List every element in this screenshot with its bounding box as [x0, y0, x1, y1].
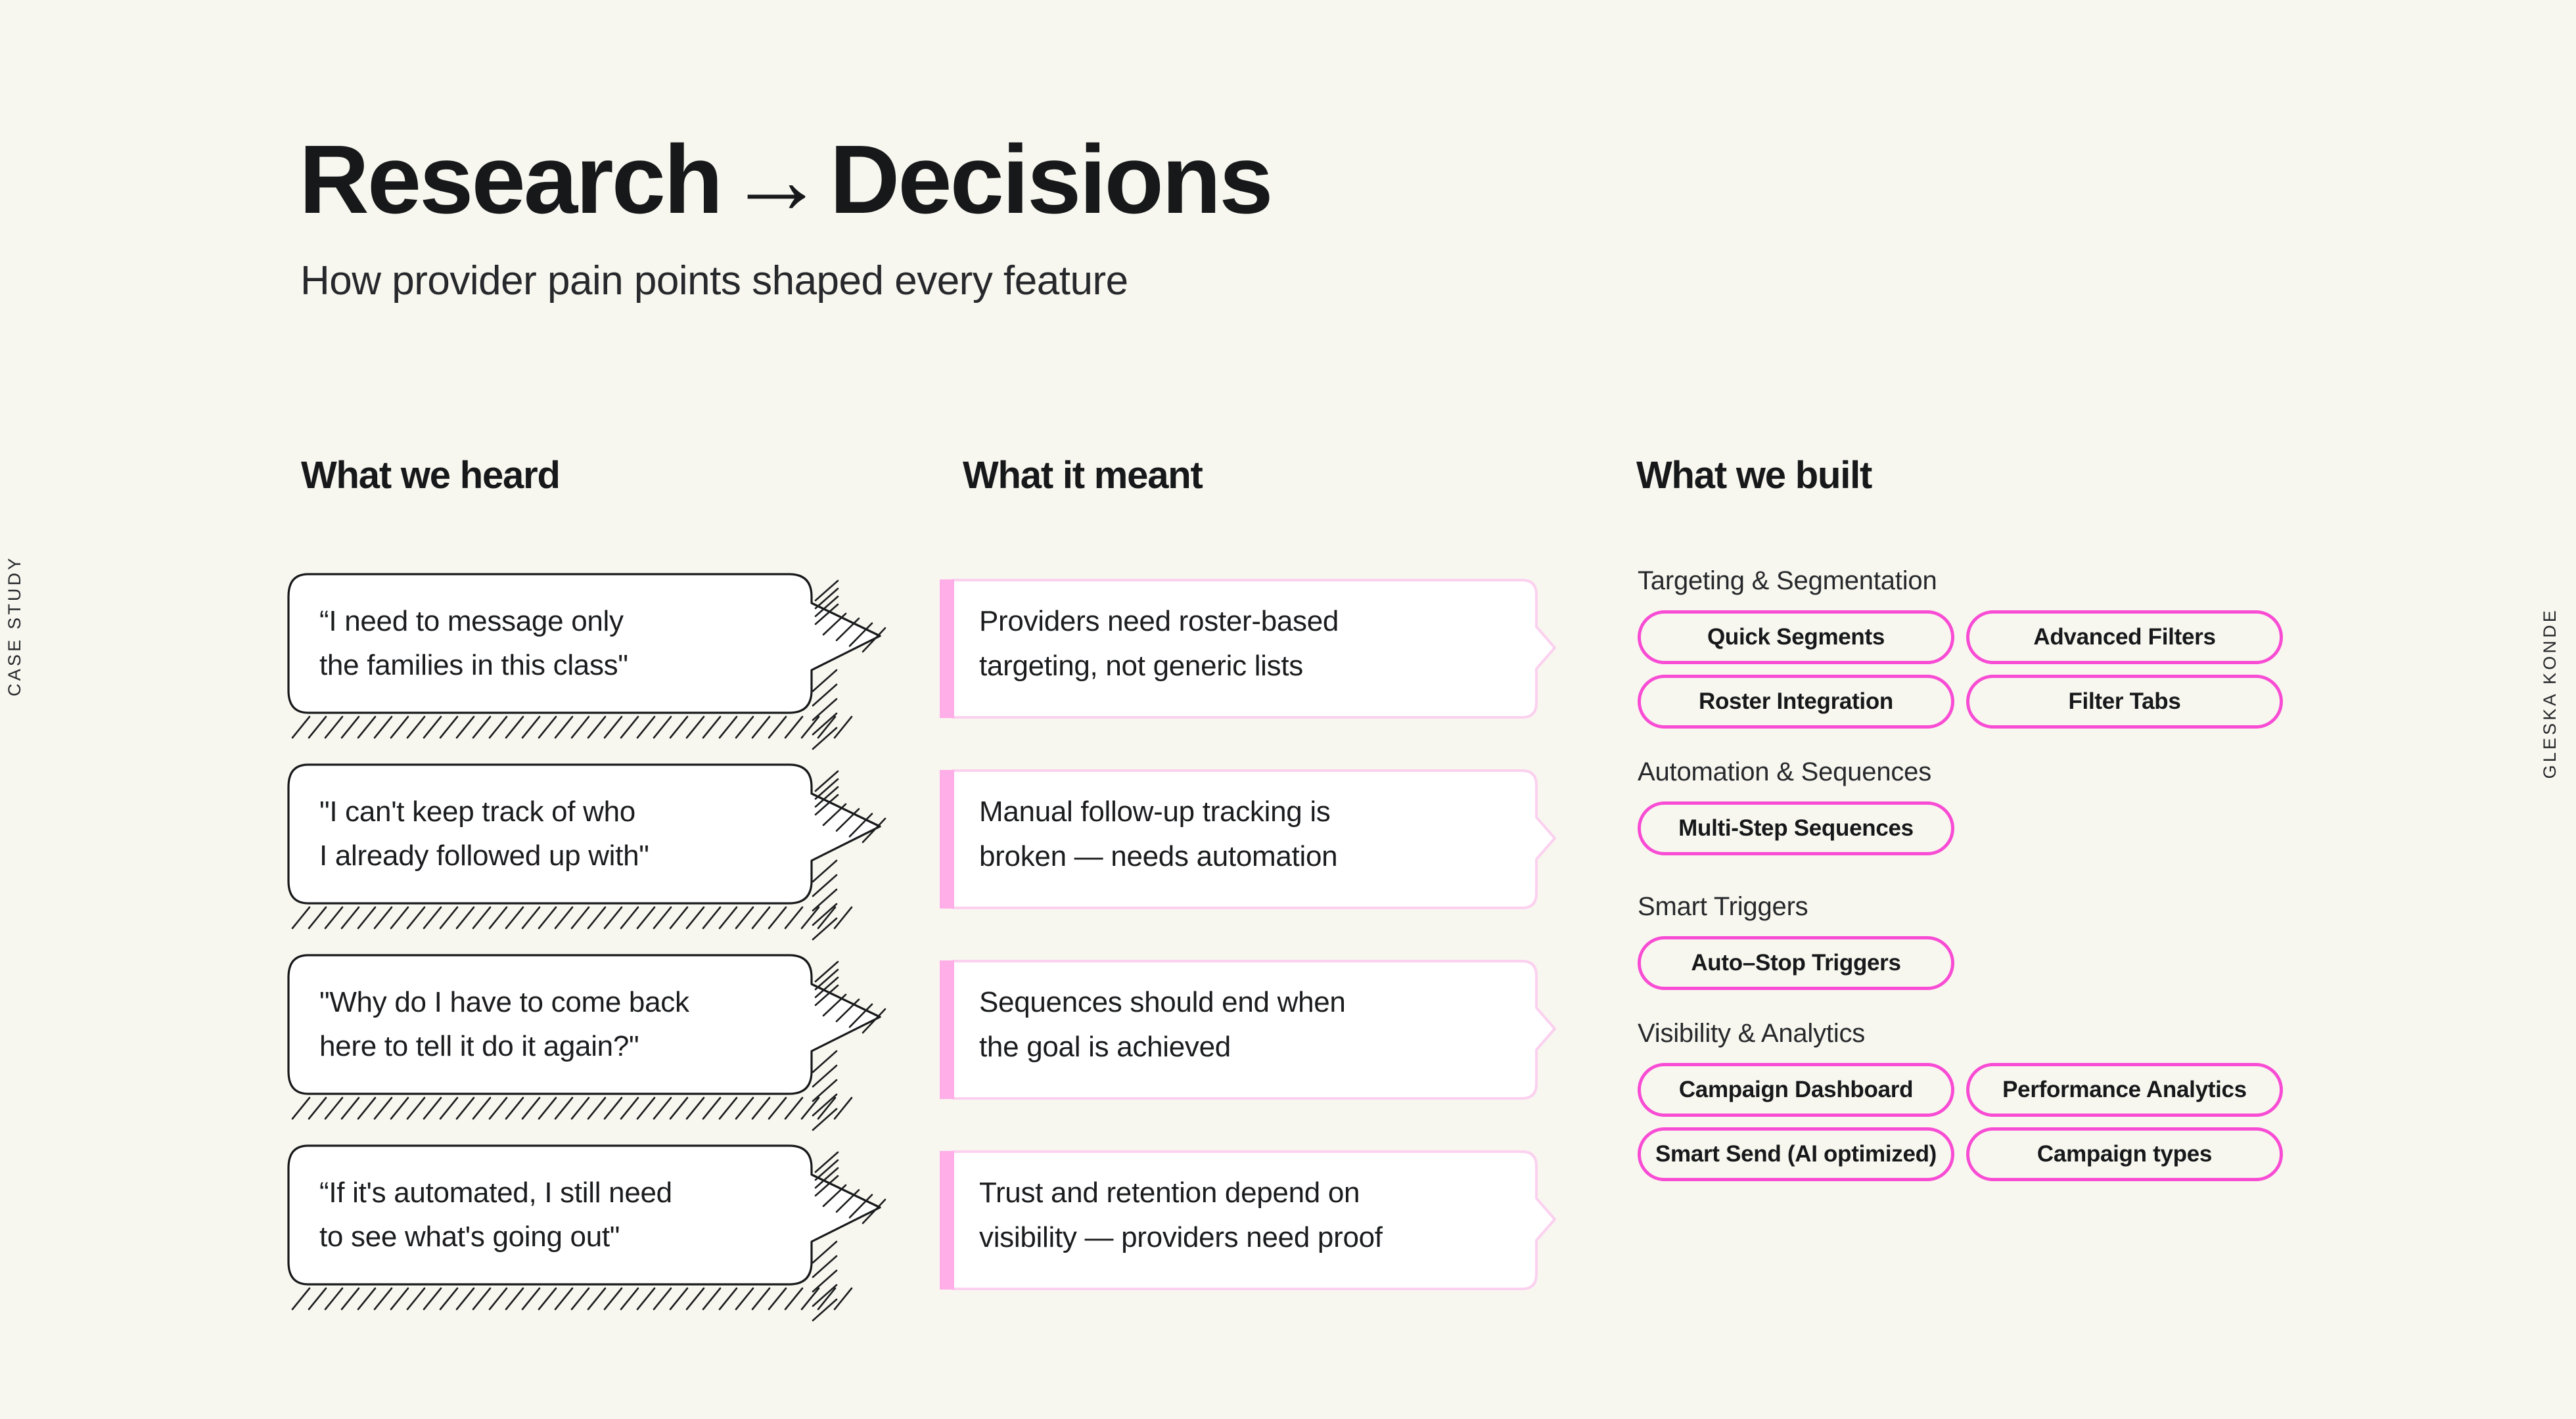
feature-pill-row: Auto–Stop Triggers [1638, 936, 2314, 990]
insight-text: Manual follow-up tracking is broken — ne… [979, 769, 1498, 900]
column-heading-what-we-built: What we built [1636, 453, 1872, 497]
quote-text: "I can't keep track of who I already fol… [319, 769, 779, 900]
brand-side-label: GLESKA KONDE [2540, 608, 2560, 778]
feature-pill[interactable]: Filter Tabs [1966, 675, 2283, 729]
feature-group: Visibility & AnalyticsCampaign Dashboard… [1638, 1019, 2314, 1181]
feature-group-title: Smart Triggers [1638, 892, 2314, 922]
feature-pill[interactable]: Quick Segments [1638, 610, 1954, 664]
insight-text: Trust and retention depend on visibility… [979, 1150, 1498, 1281]
feature-pill[interactable]: Campaign types [1966, 1127, 2283, 1181]
quote-text: “If it's automated, I still need to see … [319, 1150, 779, 1281]
page-title-left: Research [299, 125, 721, 234]
feature-pill-row: Quick SegmentsAdvanced FiltersRoster Int… [1638, 610, 2314, 729]
arrow-right-icon: → [721, 125, 829, 234]
insight-text: Providers need roster-based targeting, n… [979, 578, 1498, 709]
hero-block: Research→Decisions How provider pain poi… [299, 131, 1272, 304]
insight-card: Sequences should end when the goal is ac… [938, 959, 1553, 1091]
feature-pill[interactable]: Roster Integration [1638, 675, 1954, 729]
feature-pill[interactable]: Performance Analytics [1966, 1063, 2283, 1117]
insight-text: Sequences should end when the goal is ac… [979, 959, 1498, 1091]
quote-bubble: “I need to message only the families in … [289, 578, 808, 709]
feature-pill[interactable]: Auto–Stop Triggers [1638, 936, 1954, 990]
page-title-right: Decisions [829, 125, 1271, 234]
built-column: Targeting & SegmentationQuick SegmentsAd… [1638, 566, 2314, 1181]
insight-card: Providers need roster-based targeting, n… [938, 578, 1553, 709]
page-title: Research→Decisions [299, 131, 1272, 229]
insight-card: Trust and retention depend on visibility… [938, 1150, 1553, 1281]
feature-group: Automation & SequencesMulti-Step Sequenc… [1638, 757, 2314, 855]
quote-bubble: “If it's automated, I still need to see … [289, 1150, 808, 1281]
insight-card: Manual follow-up tracking is broken — ne… [938, 769, 1553, 900]
feature-group-title: Targeting & Segmentation [1638, 566, 2314, 596]
column-heading-what-we-heard: What we heard [301, 453, 560, 497]
quote-text: “I need to message only the families in … [319, 578, 779, 709]
case-study-side-label: CASE STUDY [5, 555, 25, 696]
column-heading-what-it-meant: What it meant [963, 453, 1203, 497]
feature-pill[interactable]: Advanced Filters [1966, 610, 2283, 664]
quotes-column: “I need to message only the families in … [289, 578, 881, 1340]
feature-group-title: Automation & Sequences [1638, 757, 2314, 787]
page-subtitle: How provider pain points shaped every fe… [300, 258, 1272, 304]
feature-pill-row: Campaign DashboardPerformance AnalyticsS… [1638, 1063, 2314, 1181]
feature-group: Smart TriggersAuto–Stop Triggers [1638, 892, 2314, 990]
feature-pill[interactable]: Smart Send (AI optimized) [1638, 1127, 1954, 1181]
quote-text: "Why do I have to come back here to tell… [319, 959, 779, 1091]
feature-group: Targeting & SegmentationQuick SegmentsAd… [1638, 566, 2314, 729]
feature-group-title: Visibility & Analytics [1638, 1019, 2314, 1048]
feature-pill[interactable]: Multi-Step Sequences [1638, 801, 1954, 855]
quote-bubble: "I can't keep track of who I already fol… [289, 769, 808, 900]
feature-pill-row: Multi-Step Sequences [1638, 801, 2314, 855]
feature-pill[interactable]: Campaign Dashboard [1638, 1063, 1954, 1117]
meanings-column: Providers need roster-based targeting, n… [938, 578, 1563, 1340]
quote-bubble: "Why do I have to come back here to tell… [289, 959, 808, 1091]
